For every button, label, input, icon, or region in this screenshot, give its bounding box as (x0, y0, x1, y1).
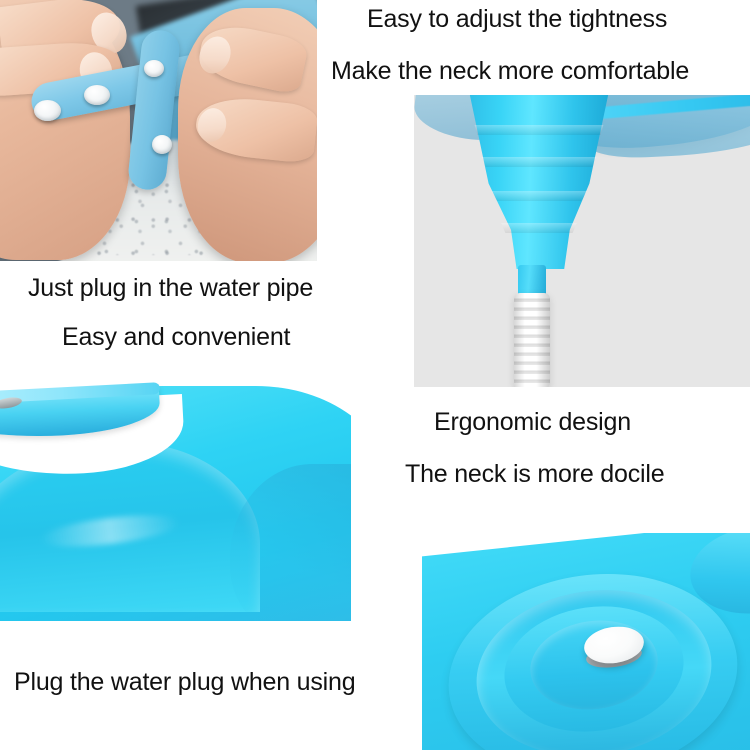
rings-plug-render (422, 533, 750, 750)
silicone-funnel (469, 95, 609, 269)
funnel-spout (518, 265, 546, 295)
caption-adjust-tightness: Easy to adjust the tightness (367, 6, 667, 32)
caption-easy-convenient: Easy and convenient (62, 324, 290, 350)
snap-button (144, 60, 164, 77)
caption-ergonomic-design: Ergonomic design (434, 409, 631, 435)
snap-button (84, 85, 110, 105)
snap-button (34, 100, 61, 121)
cap-visor-render (0, 368, 351, 621)
caption-plug-water-plug: Plug the water plug when using (14, 669, 355, 695)
caption-neck-comfortable: Make the neck more comfortable (331, 58, 689, 84)
hands-strap-photo (0, 0, 317, 261)
corrugated-water-hose (514, 293, 550, 387)
caption-neck-docile: The neck is more docile (405, 461, 664, 487)
infographic-page: Easy to adjust the tightness Make the ne… (0, 0, 750, 750)
caption-plug-water-pipe: Just plug in the water pipe (28, 275, 313, 301)
snap-button (152, 135, 172, 154)
funnel-hose-render (414, 95, 750, 387)
